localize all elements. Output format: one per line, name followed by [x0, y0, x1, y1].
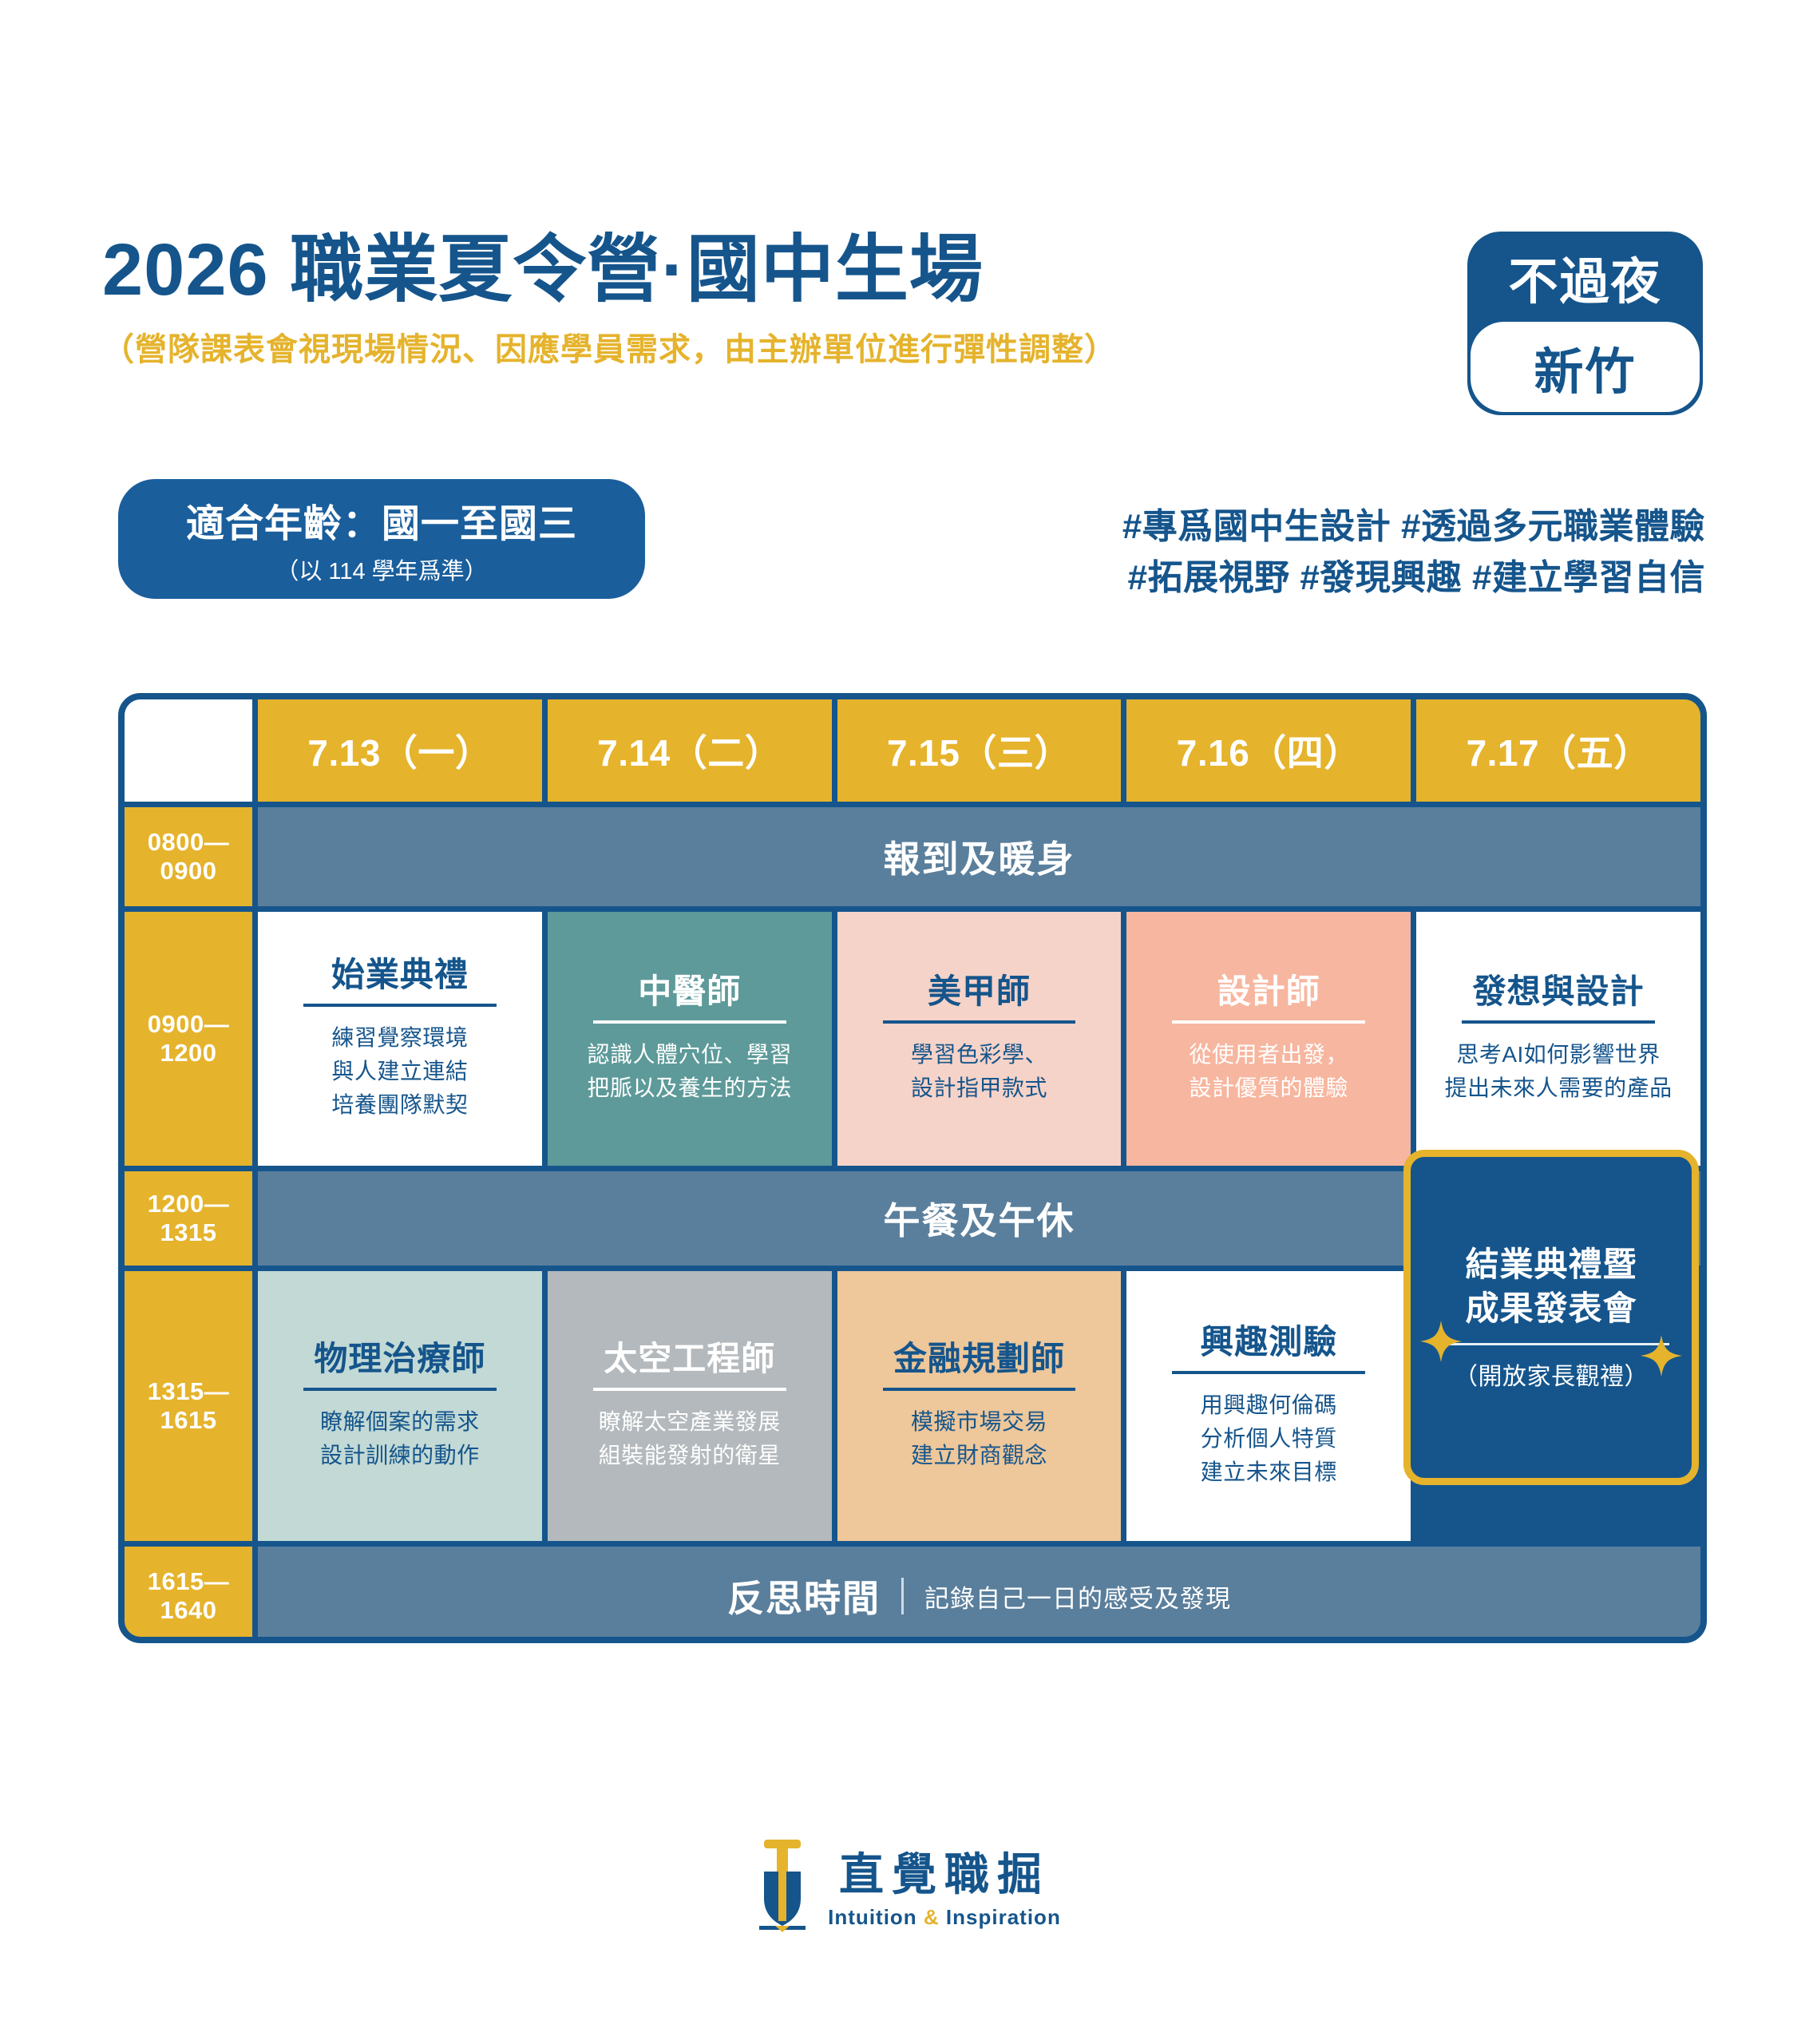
- title-block: 2026 職業夏令營·國中生場 （營隊課表會視現場情況、因應學員需求，由主辦單位…: [102, 232, 1395, 370]
- session-desc: 用興趣何倫碼 分析個人特質 建立未來目標: [1201, 1388, 1337, 1489]
- time-label-morning: 0900—1200: [125, 912, 252, 1166]
- session-divider: [883, 1388, 1076, 1391]
- session-desc: 練習覺察環境 與人建立連結 培養團隊默契: [331, 1021, 468, 1122]
- page-footer: 直覺職掘 Intuition & Inspiration: [0, 1836, 1817, 1932]
- session-divider: [593, 1388, 786, 1391]
- brand-wordmark: 直覺職掘 Intuition & Inspiration: [828, 1839, 1061, 1930]
- session-morning-day-2[interactable]: 中醫師 認識人體穴位、學習 把脈以及養生的方法: [548, 912, 832, 1166]
- session-afternoon-day-1[interactable]: 物理治療師 瞭解個案的需求 設計訓練的動作: [258, 1271, 542, 1541]
- corner-badge: 不過夜 新竹: [1467, 232, 1703, 415]
- brand-name-cn: 直覺職掘: [839, 1839, 1050, 1903]
- sparkle-icon: [1420, 1321, 1462, 1362]
- closing-ceremony-note: （開放家長觀禮）: [1454, 1357, 1649, 1392]
- brand-en-right: Inspiration: [940, 1905, 1061, 1929]
- session-divider: [883, 1020, 1076, 1024]
- time-label-lunch: 1200—1315: [125, 1171, 252, 1266]
- column-header-day-5: 7.17（五）: [1416, 699, 1700, 802]
- age-range-primary: 適合年齡：國一至國三: [186, 492, 577, 548]
- session-title: 始業典禮: [331, 956, 469, 1004]
- time-label-afternoon: 1315—1615: [125, 1271, 252, 1541]
- closing-ceremony-title: 結業典禮暨 成果發表會: [1465, 1243, 1637, 1330]
- age-range-pill: 適合年齡：國一至國三 （以 114 學年爲準）: [118, 479, 645, 599]
- session-divider: [1172, 1371, 1365, 1374]
- session-morning-day-1[interactable]: 始業典禮 練習覺察環境 與人建立連結 培養團隊默契: [258, 912, 542, 1166]
- session-desc: 從使用者出發， 設計優質的體驗: [1190, 1038, 1349, 1105]
- session-desc: 思考AI如何影響世界 提出未來人需要的產品: [1445, 1038, 1673, 1105]
- brand-logo: 直覺職掘 Intuition & Inspiration: [756, 1836, 1061, 1932]
- brand-name-en: Intuition & Inspiration: [828, 1905, 1061, 1930]
- session-afternoon-day-2[interactable]: 太空工程師 瞭解太空產業發展 組裝能發射的衛星: [548, 1271, 832, 1541]
- session-title: 太空工程師: [604, 1340, 775, 1388]
- closing-ceremony-divider: [1433, 1343, 1669, 1345]
- session-divider: [303, 1388, 497, 1391]
- session-afternoon-day-3[interactable]: 金融規劃師 模擬市場交易 建立財商觀念: [837, 1271, 1122, 1541]
- table-corner-blank: [125, 699, 252, 802]
- brand-en-amp: &: [924, 1905, 940, 1929]
- page-header: 2026 職業夏令營·國中生場 （營隊課表會視現場情況、因應學員需求，由主辦單位…: [0, 0, 1817, 447]
- session-title: 興趣測驗: [1200, 1323, 1337, 1371]
- session-desc: 認識人體穴位、學習 把脈以及養生的方法: [587, 1038, 792, 1105]
- time-label-reflect: 1615—1640: [125, 1547, 252, 1637]
- session-desc: 模擬市場交易 建立財商觀念: [911, 1405, 1047, 1472]
- hashtag-line-2: #拓展視野 #發現興趣 #建立學習自信: [915, 553, 1705, 604]
- column-header-day-2: 7.14（二）: [548, 699, 832, 802]
- corner-badge-top-label: 不過夜: [1467, 232, 1703, 322]
- time-label-checkin: 0800—0900: [125, 807, 252, 906]
- band-reflection: 反思時間 記錄自己一日的感受及發現: [258, 1547, 1700, 1637]
- session-divider: [303, 1004, 497, 1007]
- column-header-day-1: 7.13（一）: [258, 699, 542, 802]
- session-title: 美甲師: [928, 972, 1031, 1020]
- corner-badge-bottom-label: 新竹: [1471, 322, 1700, 412]
- band-reflection-desc: 記錄自己一日的感受及發現: [924, 1579, 1231, 1614]
- band-reflection-divider: [901, 1578, 904, 1614]
- session-afternoon-day-4[interactable]: 興趣測驗 用興趣何倫碼 分析個人特質 建立未來目標: [1126, 1271, 1411, 1541]
- page-subtitle: （營隊課表會視現場情況、因應學員需求，由主辦單位進行彈性調整）: [102, 323, 1395, 370]
- sparkle-icon: [1641, 1335, 1682, 1377]
- closing-ceremony-divider-wrap: [1433, 1343, 1669, 1345]
- session-divider: [1462, 1020, 1655, 1024]
- hashtag-line-1: #專爲國中生設計 #透過多元職業體驗: [915, 501, 1705, 553]
- shovel-icon: [756, 1836, 809, 1932]
- column-header-day-4: 7.16（四）: [1126, 699, 1411, 802]
- hashtag-block: #專爲國中生設計 #透過多元職業體驗 #拓展視野 #發現興趣 #建立學習自信: [915, 501, 1705, 604]
- session-title: 中醫師: [638, 972, 741, 1020]
- band-checkin: 報到及暖身: [258, 807, 1700, 906]
- session-title: 發想與設計: [1473, 972, 1645, 1020]
- session-morning-day-4[interactable]: 設計師 從使用者出發， 設計優質的體驗: [1126, 912, 1411, 1166]
- session-title: 金融規劃師: [893, 1340, 1065, 1388]
- schedule-table: 7.13（一） 7.14（二） 7.15（三） 7.16（四） 7.17（五） …: [118, 693, 1707, 1643]
- session-morning-day-5[interactable]: 發想與設計 思考AI如何影響世界 提出未來人需要的產品: [1416, 912, 1700, 1166]
- column-header-day-3: 7.15（三）: [837, 699, 1122, 802]
- session-desc: 學習色彩學、 設計指甲款式: [911, 1038, 1047, 1105]
- session-closing-ceremony[interactable]: 結業典禮暨 成果發表會 （開放家長觀禮）: [1403, 1150, 1699, 1485]
- session-desc: 瞭解太空產業發展 組裝能發射的衛星: [599, 1405, 781, 1472]
- session-desc: 瞭解個案的需求 設計訓練的動作: [320, 1405, 480, 1472]
- session-morning-day-3[interactable]: 美甲師 學習色彩學、 設計指甲款式: [837, 912, 1122, 1166]
- brand-en-left: Intuition: [828, 1905, 924, 1929]
- age-range-note: （以 114 學年爲準）: [275, 553, 487, 586]
- session-title: 設計師: [1217, 972, 1320, 1020]
- band-reflection-title: 反思時間: [727, 1570, 881, 1622]
- session-title: 物理治療師: [314, 1340, 485, 1388]
- page-title: 2026 職業夏令營·國中生場: [102, 232, 1395, 309]
- session-divider: [593, 1020, 786, 1024]
- session-divider: [1172, 1020, 1365, 1024]
